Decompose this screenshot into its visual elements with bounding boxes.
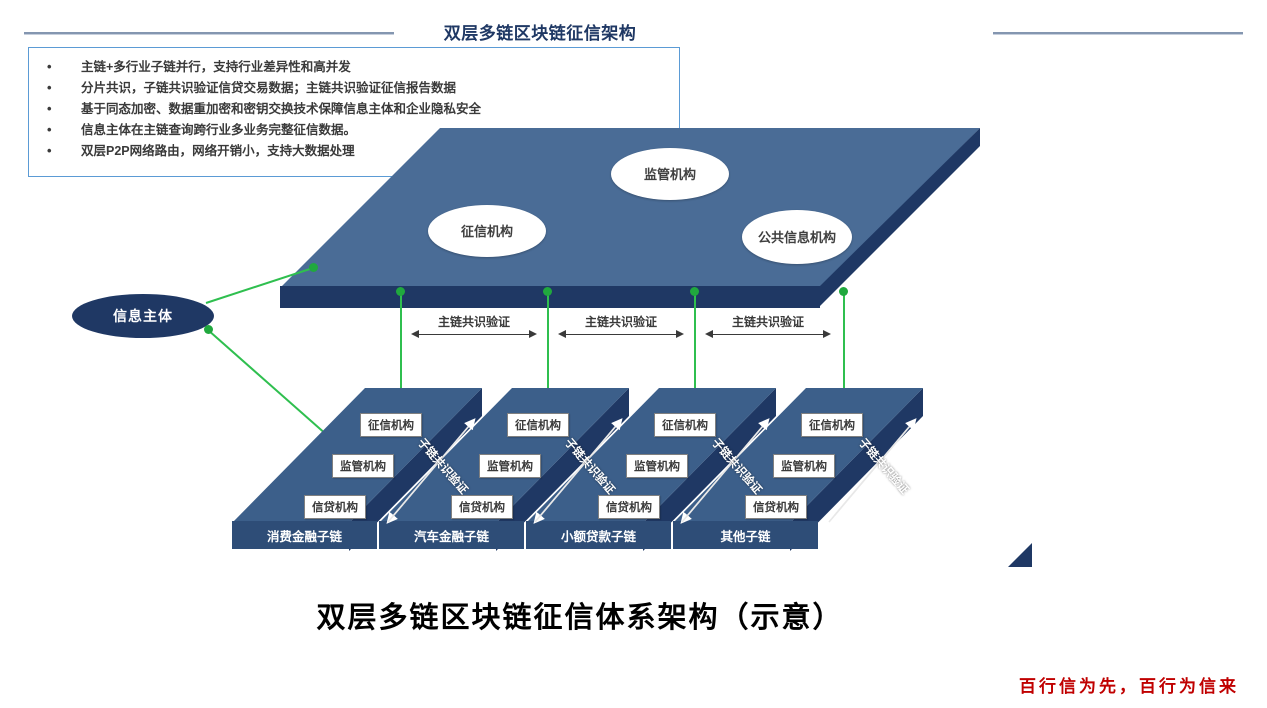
sub-node-lender: 信贷机构: [304, 495, 366, 519]
slogan-footer: 百行信为先，百行为信来: [1019, 672, 1239, 697]
sub-consensus-double-arrow-icon: [519, 410, 639, 540]
main-consensus-group: 主链共识验证: [706, 313, 830, 347]
main-consensus-group: 主链共识验证: [559, 313, 683, 347]
main-consensus-label: 主链共识验证: [706, 313, 830, 330]
sub-chain-consumer-finance: 消费金融子链 征信机构 监管机构 信贷机构 子链共识验证: [232, 388, 482, 570]
bullet-item: 分片共识，子链共识验证信贷交易数据；主链共识验证征信报告数据: [29, 78, 679, 99]
sub-consensus-double-arrow-icon: [813, 410, 933, 540]
main-node-credit-agency: 征信机构: [428, 205, 546, 257]
main-chain-slab-top: [280, 128, 980, 288]
double-arrow-icon: [565, 334, 677, 335]
main-consensus-group: 主链共识验证: [412, 313, 536, 347]
diagram-caption: 双层多链区块链征信体系架构（示意）: [0, 594, 1160, 636]
sub-chain-name: 消费金融子链: [232, 521, 377, 549]
link-dot: [543, 287, 552, 296]
sub-consensus-double-arrow-icon: [372, 410, 492, 540]
main-node-public-info: 公共信息 机构: [742, 210, 852, 264]
decorative-corner-triangle: [1008, 543, 1032, 567]
main-node-regulator: 监管机构: [611, 148, 729, 200]
double-arrow-icon: [418, 334, 530, 335]
link-dot: [204, 325, 213, 334]
sub-consensus-group: 子链共识验证: [813, 410, 933, 540]
sub-chain-name-plate: 消费金融子链: [232, 521, 377, 549]
main-consensus-label: 主链共识验证: [412, 313, 536, 330]
sub-consensus-group: 子链共识验证: [372, 410, 492, 540]
link-dot: [309, 263, 318, 272]
main-node-public-info-line2: 机构: [810, 229, 836, 246]
main-consensus-label: 主链共识验证: [559, 313, 683, 330]
link-dot: [690, 287, 699, 296]
page-title: 双层多链区块链征信架构: [400, 19, 680, 44]
main-node-public-info-line1: 公共信息: [758, 229, 810, 246]
link-dot: [839, 287, 848, 296]
information-subject-node: 信息主体: [72, 294, 214, 338]
sub-consensus-group: 子链共识验证: [519, 410, 639, 540]
bullet-item: 基于同态加密、数据重加密和密钥交换技术保障信息主体和企业隐私安全: [29, 99, 679, 120]
double-arrow-icon: [712, 334, 824, 335]
slide-canvas: 双层多链区块链征信架构 主链+多行业子链并行，支持行业差异性和高并发 分片共识，…: [0, 0, 1267, 708]
header-rule-left: [24, 32, 394, 34]
header-rule-right: [993, 32, 1243, 34]
link-dot: [396, 287, 405, 296]
sub-consensus-group: 子链共识验证: [666, 410, 786, 540]
sub-consensus-double-arrow-icon: [666, 410, 786, 540]
bullet-item: 主链+多行业子链并行，支持行业差异性和高并发: [29, 57, 679, 78]
